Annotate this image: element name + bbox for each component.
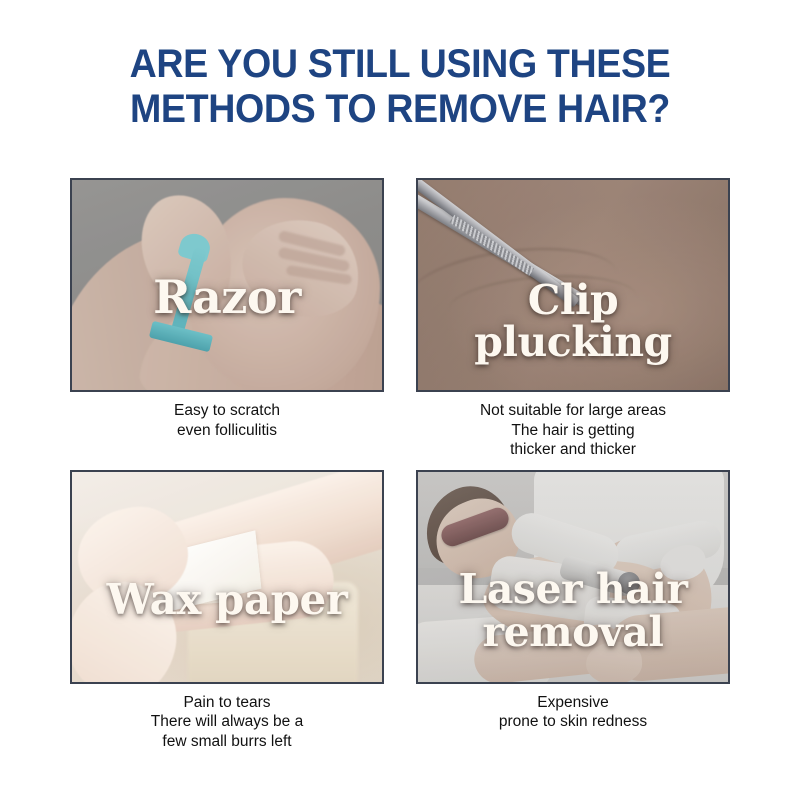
razor-caption: Easy to scratch even folliculitis (174, 401, 280, 440)
method-card-laser-hair-removal[interactable]: Laser hair removal (416, 470, 730, 684)
method-cell-laser-hair-removal: Laser hair removal Expensive prone to sk… (416, 470, 730, 752)
method-cell-razor: Razor Easy to scratch even folliculitis (70, 178, 384, 460)
method-card-clip-plucking[interactable]: Clip plucking (416, 178, 730, 392)
headline-line-2: METHODS TO REMOVE HAIR? (24, 87, 776, 132)
page-title: ARE YOU STILL USING THESE METHODS TO REM… (24, 42, 776, 132)
laser-hair-removal-caption: Expensive prone to skin redness (499, 693, 647, 732)
clip-plucking-label: Clip plucking (418, 279, 728, 364)
headline-line-1: ARE YOU STILL USING THESE (24, 42, 776, 87)
laser-hair-removal-label: Laser hair removal (418, 568, 728, 653)
clip-plucking-caption: Not suitable for large areas The hair is… (480, 401, 666, 460)
method-cell-wax-paper: Wax paper Pain to tears There will alway… (70, 470, 384, 752)
poster-root: ARE YOU STILL USING THESE METHODS TO REM… (0, 0, 800, 800)
method-cell-clip-plucking: Clip plucking Not suitable for large are… (416, 178, 730, 460)
razor-label: Razor (72, 274, 382, 322)
wax-paper-label: Wax paper (72, 578, 382, 622)
method-card-razor[interactable]: Razor (70, 178, 384, 392)
methods-grid: Razor Easy to scratch even folliculitis … (0, 178, 800, 751)
method-card-wax-paper[interactable]: Wax paper (70, 470, 384, 684)
wax-paper-caption: Pain to tears There will always be a few… (151, 693, 303, 752)
